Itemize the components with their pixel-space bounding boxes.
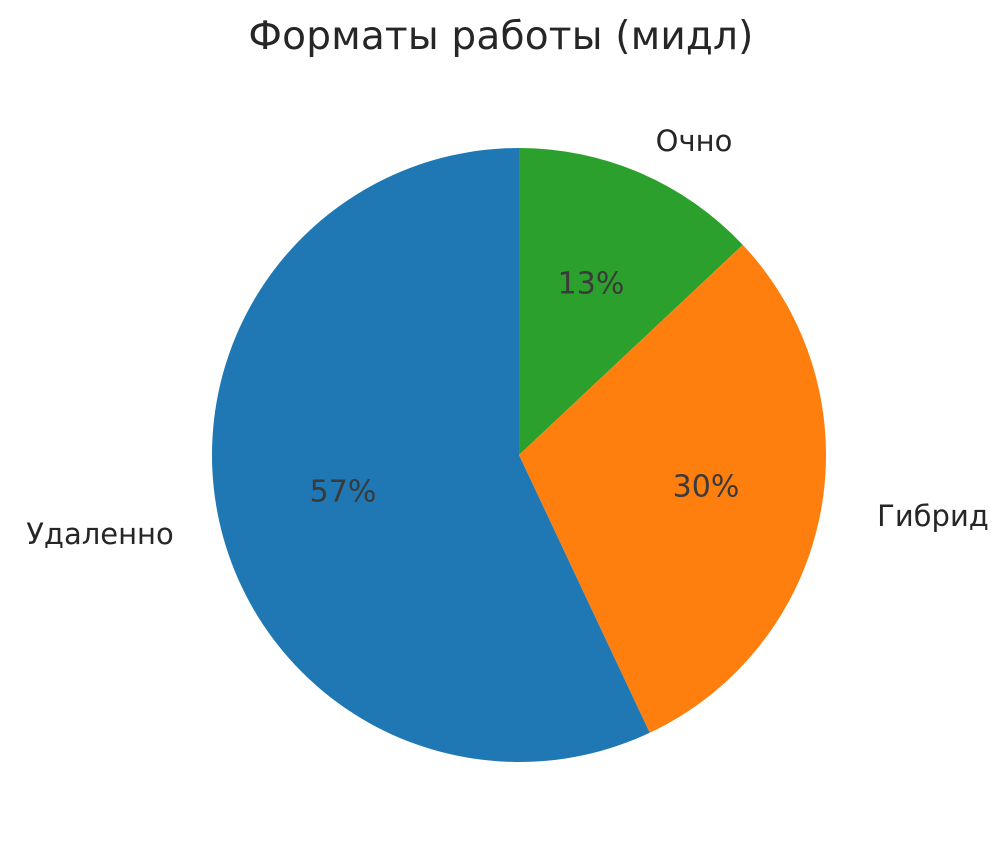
pie-svg bbox=[0, 0, 1002, 861]
pie-slice-percent-2: 30% bbox=[673, 470, 740, 505]
pie-slice-group bbox=[212, 148, 826, 762]
pie-slice-percent-1: 13% bbox=[558, 267, 625, 302]
pie-slice-label-3: Удаленно bbox=[26, 517, 174, 551]
pie-slice-label-2: Гибрид bbox=[877, 499, 989, 533]
pie-slice-percent-3: 57% bbox=[310, 475, 377, 510]
pie-slice-label-1: Очно bbox=[656, 124, 733, 158]
pie-plot-area: Очно13%Гибрид30%Удаленно57% bbox=[0, 0, 1002, 861]
pie-chart-figure: Форматы работы (мидл) Очно13%Гибрид30%Уд… bbox=[0, 0, 1002, 861]
